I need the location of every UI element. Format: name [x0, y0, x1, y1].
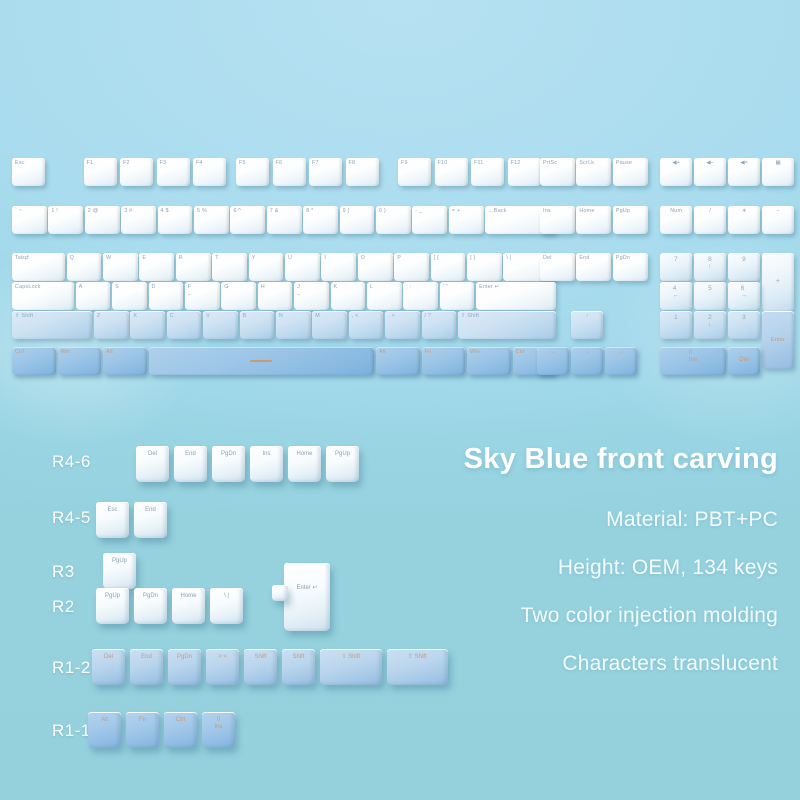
- keycap-legend: F12: [511, 160, 521, 166]
- keycap-legend: Ins: [543, 208, 551, 214]
- keycap-numpad-5[interactable]: 5: [694, 282, 726, 310]
- keycap-f10[interactable]: F10: [435, 158, 468, 186]
- keycap-pgup[interactable]: PgUp: [613, 206, 648, 234]
- keycap-f6[interactable]: F6: [273, 158, 306, 186]
- showcase-row-label-r4-6: R4-6: [52, 452, 91, 472]
- keycap-legend: ↑: [586, 313, 589, 319]
- keycap-blank[interactable]: ' ": [440, 282, 475, 310]
- keycap-legend: End: [145, 507, 156, 514]
- keycap-7[interactable]: 7 &: [267, 206, 302, 234]
- showcase-row-label-r4-5: R4-5: [52, 508, 91, 528]
- showcase-keycap-pgup[interactable]: PgUp: [96, 588, 129, 624]
- keycap-legend: X: [133, 313, 137, 319]
- keycap-blank[interactable]: →: [605, 347, 637, 375]
- keycap-volume-down-icon[interactable]: ◀−: [694, 158, 726, 186]
- keycap-f5[interactable]: F5: [236, 158, 269, 186]
- keycap-numpad-4[interactable]: 4 ←: [660, 282, 692, 310]
- keycap-legend: Esc: [107, 507, 117, 514]
- keycap-legend: M: [315, 313, 320, 319]
- showcase-enter-keycap: Enter ↵: [272, 563, 330, 631]
- keycap-legend: Ins: [262, 451, 270, 458]
- keycap-numpad-enter[interactable]: Enter: [762, 311, 794, 369]
- keycap-s[interactable]: S: [112, 282, 147, 310]
- keycap-z[interactable]: Z: [94, 311, 129, 339]
- keycap-legend: ⇧ Shift: [408, 654, 427, 661]
- keycap-g[interactable]: G: [221, 282, 256, 310]
- keycap-legend: 3 #: [124, 208, 132, 214]
- keycap-v[interactable]: V: [203, 311, 238, 339]
- keycap-legend: Win: [61, 349, 71, 355]
- keycap-scrlk[interactable]: ScrLk: [576, 158, 611, 186]
- keycap-numpad-plus[interactable]: +: [762, 253, 794, 311]
- keycap-blank[interactable]: . >: [385, 311, 420, 339]
- keycap-f3[interactable]: F3: [157, 158, 190, 186]
- keycap-legend: F3: [160, 160, 167, 166]
- keycap-f1[interactable]: F1: [84, 158, 117, 186]
- keycap-legend: F8: [349, 160, 356, 166]
- keycap-legend: \ |: [224, 593, 229, 600]
- keycap-legend: Num: [670, 208, 682, 214]
- keycap-legend: ; :: [406, 284, 411, 290]
- keycap-legend: 3: [742, 314, 746, 321]
- keycap-ins[interactable]: Ins: [540, 206, 575, 234]
- keycap-legend: ] }: [470, 255, 475, 261]
- showcase-keycap-del[interactable]: Del: [136, 446, 169, 482]
- keycap-end[interactable]: End: [576, 253, 611, 281]
- keycap-f9[interactable]: F9: [398, 158, 431, 186]
- keycap-legend: 9 (: [343, 208, 350, 214]
- keycap-legend: →: [618, 349, 624, 355]
- keycap-5[interactable]: 5 %: [194, 206, 229, 234]
- showcase-keycap-[interactable]: > <: [206, 649, 239, 685]
- keycap-legend: 5: [708, 285, 712, 292]
- keycap-legend: \ |: [506, 255, 511, 261]
- showcase-row-label-r1-1: R1-1: [52, 721, 91, 741]
- keycap-numpad-1[interactable]: 1: [660, 311, 692, 339]
- showcase-keycap-esc[interactable]: Esc: [96, 502, 129, 538]
- showcase-keycap-pgdn[interactable]: PgDn: [168, 649, 201, 685]
- keyboard-assembly: [0, 0, 800, 400]
- keycap-legend: 1 !: [51, 208, 58, 214]
- keycap-legend: F _: [188, 284, 192, 296]
- keycap-legend: 4 $: [161, 208, 169, 214]
- keycap-alt[interactable]: Alt: [103, 347, 147, 375]
- keycap-legend: PgUp: [335, 451, 350, 458]
- keycap-legend: 6 ^: [233, 208, 241, 214]
- keycap-home[interactable]: Home: [576, 206, 611, 234]
- keycap-w[interactable]: W: [103, 253, 138, 281]
- keycap-legend: ⇧ Shift: [341, 654, 360, 661]
- spec-height: Height: OEM, 134 keys: [558, 556, 778, 580]
- keycap-legend: F7: [312, 160, 319, 166]
- keycap-legend: = +: [452, 208, 460, 214]
- keycap-legend: 9: [742, 256, 746, 263]
- keycap-legend: F5: [239, 160, 246, 166]
- keycap-i[interactable]: I: [321, 253, 356, 281]
- keycap-t[interactable]: T: [212, 253, 247, 281]
- keycap-prtsc[interactable]: PrtSc: [540, 158, 575, 186]
- keycap-legend: K: [334, 284, 338, 290]
- keycap-legend: F9: [401, 160, 408, 166]
- keycap-legend: PgUp: [105, 593, 120, 600]
- keycap-blank[interactable]: / ?: [422, 311, 457, 339]
- keycap-legend: T: [215, 255, 219, 261]
- keycap-blank[interactable]: ∗: [728, 206, 760, 234]
- keycap-legend: O: [361, 255, 365, 261]
- keycap-legend: 8 *: [306, 208, 313, 214]
- keycap-blank[interactable]: /: [694, 206, 726, 234]
- showcase-keycap-shift[interactable]: ⇧ Shift: [320, 649, 382, 685]
- keycap-q[interactable]: Q: [67, 253, 102, 281]
- keycap-legend: 1: [674, 314, 678, 321]
- keycap-blank[interactable]: ] }: [467, 253, 502, 281]
- keycap-legend: PgDn: [616, 255, 630, 261]
- keycap-legend: . Del: [739, 350, 749, 363]
- keycap-blank[interactable]: [ {: [431, 253, 466, 281]
- keycap-legend: PrtSc: [543, 160, 557, 166]
- keycap-legend: PgUp: [616, 208, 630, 214]
- keycap-legend: [ {: [434, 255, 439, 261]
- keycap-legend: Del: [104, 654, 113, 661]
- showcase-row-label-r1-2: R1-2: [52, 658, 91, 678]
- keycap-legend: F10: [438, 160, 448, 166]
- keycap-enter[interactable]: Enter ↵: [476, 282, 556, 310]
- keycap-legend: Tab⇄: [15, 255, 29, 261]
- keycap-legend: Y: [252, 255, 256, 261]
- keycap-legend: Z: [97, 313, 101, 319]
- keycap-f[interactable]: F _: [185, 282, 220, 310]
- keycap-legend: Pause: [616, 160, 632, 166]
- keycap-f4[interactable]: F4: [193, 158, 226, 186]
- keycap-legend: Q: [70, 255, 74, 261]
- keycap-legend: W: [106, 255, 111, 261]
- keycap-legend: U: [288, 255, 292, 261]
- keycap-f7[interactable]: F7: [309, 158, 342, 186]
- keycap-legend: Fn: [139, 717, 146, 724]
- keycap-legend: 2 @: [88, 208, 99, 214]
- keycap-alt[interactable]: Alt: [376, 347, 420, 375]
- keycap-legend: D: [152, 284, 156, 290]
- keycap-u[interactable]: U: [285, 253, 320, 281]
- keycap-blank[interactable]: , <: [349, 311, 384, 339]
- keycap-0[interactable]: 0 ): [376, 206, 411, 234]
- keycap-numpad-8[interactable]: 8 ↑: [694, 253, 726, 281]
- keycap-n[interactable]: N: [276, 311, 311, 339]
- keycap-legend: ▦: [776, 160, 781, 166]
- showcase-keycap-shift[interactable]: Shift: [244, 649, 277, 685]
- keycap-legend: - _: [415, 208, 422, 214]
- keycap-legend: / ?: [425, 313, 432, 319]
- showcase-keycap-pgdn[interactable]: PgDn: [134, 588, 167, 624]
- product-headline: Sky Blue front carving: [464, 443, 778, 476]
- keycap-f8[interactable]: F8: [346, 158, 379, 186]
- keycap-legend: C: [170, 313, 174, 319]
- keycap-numpad-9[interactable]: 9: [728, 253, 760, 281]
- showcase-keycap-shift[interactable]: Shift: [282, 649, 315, 685]
- keycap-legend: PgUp: [112, 558, 127, 565]
- keycap-legend: Shift: [254, 654, 266, 661]
- keycap-a[interactable]: A: [76, 282, 111, 310]
- keycap-x[interactable]: X: [130, 311, 165, 339]
- keycap-legend: 7 &: [270, 208, 279, 214]
- keycap-legend: ⇧ Shift: [15, 313, 33, 319]
- keycap-f11[interactable]: F11: [471, 158, 504, 186]
- showcase-keycap-home[interactable]: Home: [172, 588, 205, 624]
- keycap-legend: ' ": [443, 284, 448, 290]
- keycap-legend: PgDn: [177, 654, 192, 661]
- showcase-keycap-pgdn[interactable]: PgDn: [212, 446, 245, 482]
- keycap-legend: Esc: [15, 160, 25, 166]
- keycap-legend: V: [206, 313, 210, 319]
- showcase-keycap-0-ins[interactable]: 0 Ins: [202, 712, 235, 748]
- keycap-legend: A: [79, 284, 83, 290]
- keycap-legend: 5 %: [197, 208, 207, 214]
- keycap-legend: Home: [579, 208, 594, 214]
- keycap-legend: F11: [474, 160, 484, 166]
- showcase-keycap-pgup[interactable]: PgUp: [326, 446, 359, 482]
- keycap-legend: ◀×: [740, 160, 748, 166]
- keycap-legend: ScrLk: [579, 160, 594, 166]
- keycap-numpad-dot[interactable]: . Del: [728, 347, 760, 375]
- keycap-legend: N: [279, 313, 283, 319]
- keycap-f2[interactable]: F2: [120, 158, 153, 186]
- keycap-legend: ⇧ Shift: [461, 313, 479, 319]
- keycap-j[interactable]: J _: [294, 282, 329, 310]
- keycap-m[interactable]: M: [312, 311, 347, 339]
- keycap-volume-up-icon[interactable]: ◀+: [660, 158, 692, 186]
- enter-keycap-step: [272, 585, 288, 601]
- keycap-4[interactable]: 4 $: [158, 206, 193, 234]
- keycap-legend: 0 Ins: [689, 350, 698, 363]
- keycap-blank[interactable]: ` ~: [12, 206, 47, 234]
- keycap-o[interactable]: O: [358, 253, 393, 281]
- keycap-legend: Alt: [101, 717, 108, 724]
- keycap-legend: 0 ): [379, 208, 386, 214]
- keycap-legend: Enter: [771, 337, 785, 343]
- keycap-pause[interactable]: Pause: [613, 158, 648, 186]
- keycap-win[interactable]: Win: [467, 347, 511, 375]
- keycap-legend: R: [179, 255, 183, 261]
- keycap-shift[interactable]: ⇧ Shift: [12, 311, 92, 339]
- keycap-8[interactable]: 8 *: [303, 206, 338, 234]
- keycap-3[interactable]: 3 #: [121, 206, 156, 234]
- product-photo-stage: EscF1F2F3F4F5F6F7F8F9F10F11F12 PrtScScrL…: [0, 0, 800, 800]
- keycap-num[interactable]: Num: [660, 206, 692, 234]
- keycap-legend: /: [709, 208, 711, 214]
- keycap-blank[interactable]: −: [762, 206, 794, 234]
- keycap-legend: ←Back: [488, 208, 506, 214]
- keycap-legend: H: [261, 284, 265, 290]
- showcase-keycap-ctrl[interactable]: Ctrl: [164, 712, 197, 748]
- keycap-legend: End: [141, 654, 152, 661]
- keycap-c[interactable]: C: [167, 311, 202, 339]
- keycap-legend: > <: [218, 654, 227, 661]
- keycap-1[interactable]: 1 !: [48, 206, 83, 234]
- spec-molding: Two color injection molding: [520, 604, 778, 628]
- showcase-keycap-end[interactable]: End: [174, 446, 207, 482]
- keycap-legend: 0 Ins: [214, 717, 222, 730]
- keycap-legend: PgDn: [143, 593, 158, 600]
- keycap-2[interactable]: 2 @: [85, 206, 120, 234]
- keycap-k[interactable]: K: [331, 282, 366, 310]
- keycap-legend: ◀−: [706, 160, 714, 166]
- keycap-d[interactable]: D: [149, 282, 184, 310]
- keycap-legend: Home: [296, 451, 312, 458]
- keycap-legend: Ctrl: [176, 717, 185, 724]
- spec-legend-style: Characters translucent: [562, 652, 778, 676]
- keycap-l[interactable]: L: [367, 282, 402, 310]
- keycap-legend: J _: [297, 284, 300, 296]
- enter-keycap-label: Enter ↵: [296, 585, 317, 592]
- keycap-legend: CapsLock: [15, 284, 41, 290]
- keycap-legend: −: [777, 208, 780, 214]
- keycap-legend: , <: [352, 313, 359, 319]
- keycap-6[interactable]: 6 ^: [230, 206, 265, 234]
- keycap-legend: End: [185, 451, 196, 458]
- keycap-legend: ↓: [586, 349, 589, 355]
- keycap-win[interactable]: Win: [58, 347, 102, 375]
- showcase-keycap-end[interactable]: End: [134, 502, 167, 538]
- keycap-fn[interactable]: Fn: [422, 347, 466, 375]
- keycap-del[interactable]: Del: [540, 253, 575, 281]
- keycap-spacebar[interactable]: [149, 347, 375, 375]
- keycap-legend: Del: [148, 451, 157, 458]
- showcase-keycap-shift[interactable]: ⇧ Shift: [387, 649, 449, 685]
- keycap-9[interactable]: 9 (: [340, 206, 375, 234]
- showcase-row-label-r2: R2: [52, 597, 75, 617]
- keycap-legend: F4: [196, 160, 203, 166]
- keycap-tab[interactable]: Tab⇄: [12, 253, 65, 281]
- keycap-legend: Shift: [292, 654, 304, 661]
- keycap-legend: I: [324, 255, 326, 261]
- keycap-mute-icon[interactable]: ◀×: [728, 158, 760, 186]
- keycap-legend: 4 ←: [673, 285, 680, 299]
- showcase-keycap-end[interactable]: End: [130, 649, 163, 685]
- keycap-legend: 7: [674, 256, 678, 263]
- keycap-numpad-2[interactable]: 2 ↓: [694, 311, 726, 339]
- keycap-blank[interactable]: ↓: [571, 347, 603, 375]
- keycap-shift[interactable]: ⇧ Shift: [458, 311, 557, 339]
- keycap-legend: End: [579, 255, 589, 261]
- keycap-legend: Home: [180, 593, 196, 600]
- keycap-blank[interactable]: ; :: [403, 282, 438, 310]
- keycap-legend: Win: [470, 349, 480, 355]
- spec-material: Material: PBT+PC: [606, 508, 778, 532]
- showcase-keycap-ins[interactable]: Ins: [250, 446, 283, 482]
- spacebar-dash-icon: [250, 360, 272, 362]
- keycap-legend: 2 ↓: [708, 314, 712, 328]
- keycap-p[interactable]: P: [394, 253, 429, 281]
- keycap-legend: F2: [123, 160, 130, 166]
- showcase-keycap-pgup[interactable]: PgUp: [103, 553, 136, 589]
- keycap-legend: Alt: [106, 349, 113, 355]
- keycap-numpad-0[interactable]: 0 Ins: [660, 347, 726, 375]
- keycap-esc[interactable]: Esc: [12, 158, 45, 186]
- keycap-legend: Ctrl: [516, 349, 525, 355]
- keycap-capslock[interactable]: CapsLock: [12, 282, 74, 310]
- keycap-b[interactable]: B: [240, 311, 275, 339]
- keycap-numpad-6[interactable]: 6 →: [728, 282, 760, 310]
- keycap-pgdn[interactable]: PgDn: [613, 253, 648, 281]
- keycap-legend: Del: [543, 255, 552, 261]
- showcase-keycap-[interactable]: \ |: [210, 588, 243, 624]
- keycap-legend: ` ~: [15, 208, 22, 214]
- showcase-keycap-del[interactable]: Del: [92, 649, 125, 685]
- showcase-keycap-fn[interactable]: Fn: [126, 712, 159, 748]
- keycap-legend: L: [370, 284, 373, 290]
- keycap-legend: Enter ↵: [479, 284, 499, 290]
- keycap-legend: G: [224, 284, 228, 290]
- keycap-ctrl[interactable]: Ctrl: [12, 347, 56, 375]
- keycap-legend: +: [776, 278, 780, 286]
- keycap-legend: S: [115, 284, 119, 290]
- keycap-blank[interactable]: ↑: [571, 311, 603, 339]
- keycap-legend: Fn: [425, 349, 432, 355]
- keycap-legend: ←: [550, 349, 556, 355]
- keycap-legend: . >: [388, 313, 395, 319]
- keycap-h[interactable]: H: [258, 282, 293, 310]
- keycap-legend: 8 ↑: [708, 256, 712, 270]
- keycap-legend: F1: [87, 160, 94, 166]
- keycap-blank[interactable]: = +: [449, 206, 484, 234]
- keycap-legend: P: [397, 255, 401, 261]
- keycap-blank[interactable]: - _: [412, 206, 447, 234]
- keycap-numpad-7[interactable]: 7: [660, 253, 692, 281]
- keycap-legend: E: [142, 255, 146, 261]
- keycap-r[interactable]: R: [176, 253, 211, 281]
- keycap-legend: Alt: [379, 349, 386, 355]
- showcase-keycap-alt[interactable]: Alt: [88, 712, 121, 748]
- keycap-blank[interactable]: ←: [537, 347, 569, 375]
- keycap-numpad-3[interactable]: 3: [728, 311, 760, 339]
- keycap-legend: 6 →: [741, 285, 748, 299]
- showcase-keycap-home[interactable]: Home: [288, 446, 321, 482]
- keycap-legend: Ctrl: [15, 349, 24, 355]
- enter-keycap-body: Enter ↵: [284, 563, 330, 631]
- keycap-legend: B: [243, 313, 247, 319]
- keycap-legend: PgDn: [221, 451, 236, 458]
- keycap-calculator-icon[interactable]: ▦: [762, 158, 794, 186]
- keycap-legend: ◀+: [672, 160, 680, 166]
- keycap-legend: F6: [276, 160, 283, 166]
- keycap-f12[interactable]: F12: [508, 158, 541, 186]
- keycap-y[interactable]: Y: [249, 253, 284, 281]
- keycap-e[interactable]: E: [139, 253, 174, 281]
- keycap-legend: ∗: [742, 208, 747, 214]
- showcase-row-label-r3: R3: [52, 562, 75, 582]
